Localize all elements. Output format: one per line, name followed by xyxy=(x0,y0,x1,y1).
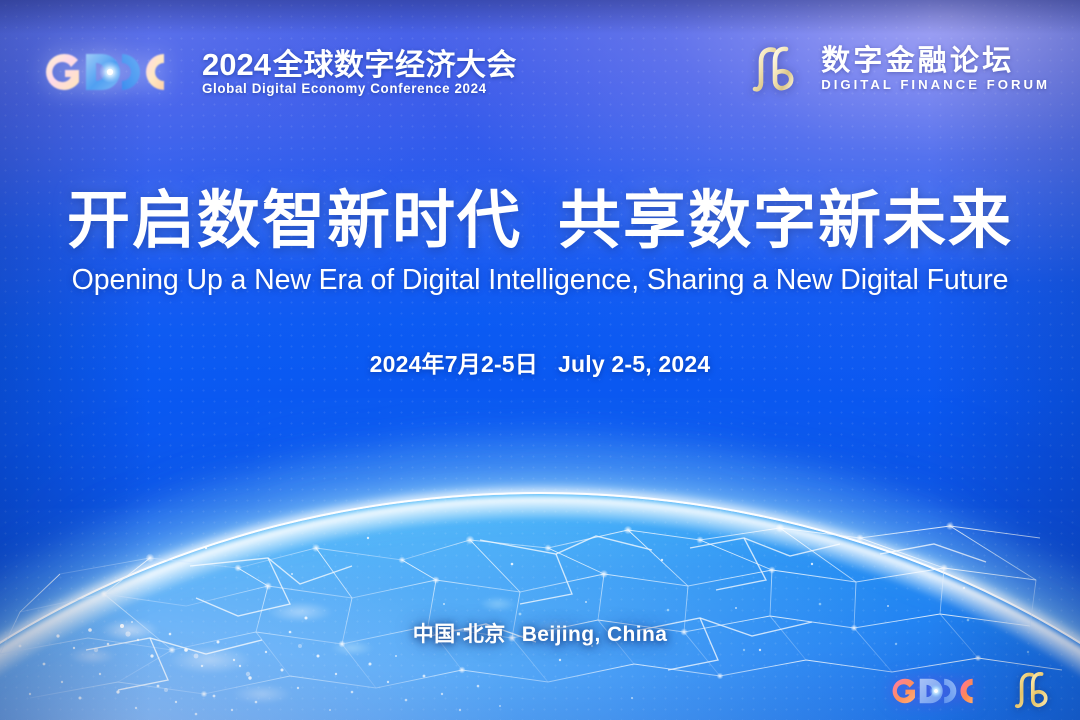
digital-finance-forum-logo-lockup: 数字金融论坛 DIGITAL FINANCE FORUM xyxy=(752,44,1050,94)
gdec-title-year: 2024 xyxy=(202,47,271,82)
gdec-gradient-wordmark-icon xyxy=(34,44,186,100)
event-date-en: July 2-5, 2024 xyxy=(558,351,710,377)
gdec-title-en: Global Digital Economy Conference 2024 xyxy=(202,82,517,95)
hero-block: 开启数智新时代共享数字新未来 Opening Up a New Era of D… xyxy=(0,188,1080,379)
event-date-cn: 2024年7月2-5日 xyxy=(370,351,538,377)
conference-backdrop-poster: 2024全球数字经济大会 Global Digital Economy Conf… xyxy=(0,0,1080,720)
headline-cn: 开启数智新时代共享数字新未来 xyxy=(0,188,1080,255)
footer-logos xyxy=(884,670,1058,710)
poster-header: 2024全球数字经济大会 Global Digital Economy Conf… xyxy=(0,0,1080,140)
headline-en: Opening Up a New Era of Digital Intellig… xyxy=(0,264,1080,297)
headline-cn-part2: 共享数字新未来 xyxy=(558,186,1013,256)
event-location-en: Beijing, China xyxy=(522,623,668,646)
event-date: 2024年7月2-5日July 2-5, 2024 xyxy=(0,345,1080,379)
gdec-title-cn-rest: 全球数字经济大会 xyxy=(273,49,517,82)
event-location-cn: 中国·北京 xyxy=(413,623,506,646)
ff-monogram-icon xyxy=(752,44,806,94)
footer-gdec-gradient-wordmark-icon xyxy=(884,672,988,708)
event-location: 中国·北京Beijing, China xyxy=(0,618,1080,648)
gdec-logo-lockup: 2024全球数字经济大会 Global Digital Economy Conf… xyxy=(34,44,517,100)
headline-cn-part1: 开启数智新时代 xyxy=(67,186,522,256)
dff-title-cn: 数字金融论坛 xyxy=(821,46,1014,76)
dff-title-en: DIGITAL FINANCE FORUM xyxy=(821,78,1050,91)
footer-ff-monogram-icon xyxy=(1014,670,1058,710)
gdec-title-cn: 2024全球数字经济大会 xyxy=(202,49,517,82)
